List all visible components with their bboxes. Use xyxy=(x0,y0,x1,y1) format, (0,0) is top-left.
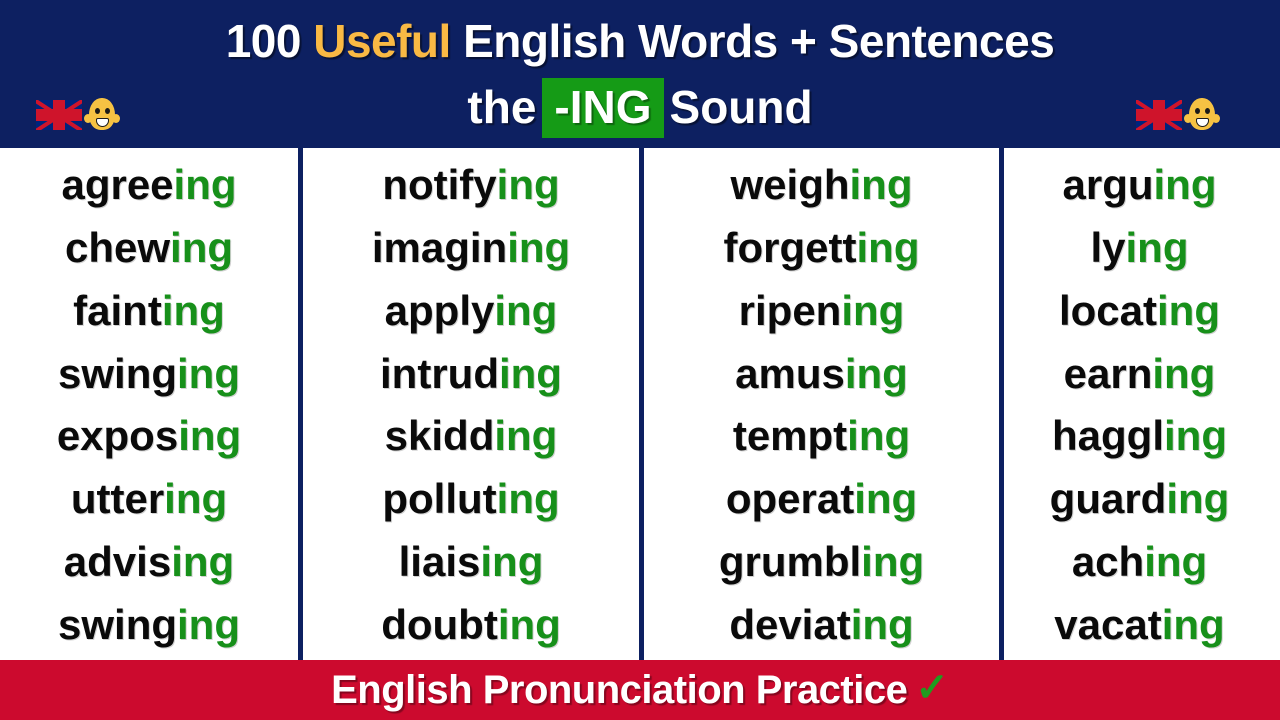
word-stem: tempt xyxy=(733,412,847,459)
word-ing-suffix: ing xyxy=(1157,287,1220,334)
word-ing-suffix: ing xyxy=(480,538,543,585)
word-ing-suffix: ing xyxy=(498,601,561,648)
word-item: liaising xyxy=(399,541,544,583)
word-ing-suffix: ing xyxy=(171,538,234,585)
word-stem: haggl xyxy=(1052,412,1164,459)
word-stem: expos xyxy=(57,412,178,459)
word-item: exposing xyxy=(57,415,241,457)
word-ing-suffix: ing xyxy=(1164,412,1227,459)
word-item: agreeing xyxy=(61,164,236,206)
word-stem: deviat xyxy=(729,601,850,648)
word-ing-suffix: ing xyxy=(1152,350,1215,397)
word-stem: apply xyxy=(385,287,495,334)
smiley-face-icon xyxy=(84,98,120,134)
word-item: uttering xyxy=(71,478,227,520)
word-stem: amus xyxy=(735,350,845,397)
title-suffix: English Words + Sentences xyxy=(451,15,1055,67)
word-item: operating xyxy=(726,478,917,520)
uk-flag-smiley-left xyxy=(36,96,132,138)
word-item: fainting xyxy=(73,290,225,332)
word-column-0: agreeingchewingfaintingswingingexposingu… xyxy=(0,148,298,660)
word-stem: vacat xyxy=(1054,601,1161,648)
word-item: forgetting xyxy=(724,227,920,269)
word-ing-suffix: ing xyxy=(164,475,227,522)
word-ing-suffix: ing xyxy=(1166,475,1229,522)
word-stem: faint xyxy=(73,287,162,334)
word-grid: agreeingchewingfaintingswingingexposingu… xyxy=(0,148,1280,660)
word-stem: earn xyxy=(1064,350,1153,397)
word-stem: grumbl xyxy=(719,538,861,585)
word-item: deviating xyxy=(729,604,913,646)
smiley-face-icon xyxy=(1184,98,1220,134)
title-highlight-useful: Useful xyxy=(313,15,451,67)
word-stem: imagin xyxy=(372,224,507,271)
word-stem: pollut xyxy=(382,475,496,522)
word-stem: locat xyxy=(1059,287,1157,334)
word-column-1: notifyingimaginingapplyingintrudingskidd… xyxy=(298,148,639,660)
footer-label: English Pronunciation Practice xyxy=(331,668,907,713)
word-item: guarding xyxy=(1050,478,1230,520)
word-ing-suffix: ing xyxy=(494,412,557,459)
slide-root: 100 Useful English Words + Sentences the… xyxy=(0,0,1280,720)
word-item: swinging xyxy=(58,353,240,395)
word-ing-suffix: ing xyxy=(1154,161,1217,208)
word-item: skidding xyxy=(385,415,558,457)
word-item: arguing xyxy=(1063,164,1217,206)
word-ing-suffix: ing xyxy=(497,161,560,208)
word-stem: guard xyxy=(1050,475,1167,522)
ing-highlight-box: -ING xyxy=(542,78,663,138)
word-ing-suffix: ing xyxy=(497,475,560,522)
word-item: intruding xyxy=(380,353,562,395)
title-line-1: 100 Useful English Words + Sentences xyxy=(0,14,1280,68)
word-item: notifying xyxy=(382,164,559,206)
word-ing-suffix: ing xyxy=(499,350,562,397)
footer-banner: English Pronunciation Practice ✓ xyxy=(0,660,1280,720)
word-stem: utter xyxy=(71,475,164,522)
word-stem: advis xyxy=(64,538,171,585)
word-item: doubting xyxy=(381,604,561,646)
word-ing-suffix: ing xyxy=(174,161,237,208)
word-stem: swing xyxy=(58,601,177,648)
word-stem: ly xyxy=(1090,224,1125,271)
word-stem: doubt xyxy=(381,601,498,648)
word-stem: ripen xyxy=(739,287,842,334)
word-item: applying xyxy=(385,290,558,332)
word-item: imagining xyxy=(372,227,570,269)
word-ing-suffix: ing xyxy=(854,475,917,522)
word-stem: weigh xyxy=(731,161,850,208)
uk-flag-icon xyxy=(1136,100,1182,130)
word-ing-suffix: ing xyxy=(857,224,920,271)
word-ing-suffix: ing xyxy=(178,412,241,459)
word-stem: operat xyxy=(726,475,854,522)
word-ing-suffix: ing xyxy=(1144,538,1207,585)
word-ing-suffix: ing xyxy=(177,601,240,648)
word-ing-suffix: ing xyxy=(177,350,240,397)
word-ing-suffix: ing xyxy=(845,350,908,397)
word-item: tempting xyxy=(733,415,910,457)
word-stem: swing xyxy=(58,350,177,397)
word-ing-suffix: ing xyxy=(851,601,914,648)
word-stem: agree xyxy=(61,161,173,208)
word-stem: chew xyxy=(65,224,170,271)
word-item: chewing xyxy=(65,227,233,269)
word-item: weighing xyxy=(731,164,913,206)
word-ing-suffix: ing xyxy=(507,224,570,271)
word-item: advising xyxy=(64,541,234,583)
title-line-2: the-INGSound xyxy=(0,78,1280,138)
word-item: amusing xyxy=(735,353,908,395)
word-item: polluting xyxy=(382,478,559,520)
word-item: lying xyxy=(1090,227,1188,269)
word-ing-suffix: ing xyxy=(162,287,225,334)
word-column-2: weighingforgettingripeningamusingtemptin… xyxy=(639,148,999,660)
word-item: haggling xyxy=(1052,415,1227,457)
word-item: ripening xyxy=(739,290,905,332)
word-ing-suffix: ing xyxy=(847,412,910,459)
uk-flag-smiley-right xyxy=(1136,96,1232,138)
header-banner: 100 Useful English Words + Sentences the… xyxy=(0,0,1280,148)
word-stem: intrud xyxy=(380,350,499,397)
word-item: vacating xyxy=(1054,604,1224,646)
title-prefix: 100 xyxy=(226,15,314,67)
checkmark-icon: ✓ xyxy=(915,668,949,708)
word-column-3: arguinglyinglocatingearninghagglingguard… xyxy=(999,148,1275,660)
word-ing-suffix: ing xyxy=(1162,601,1225,648)
subtitle-suffix: Sound xyxy=(670,81,813,133)
word-item: locating xyxy=(1059,290,1220,332)
word-item: grumbling xyxy=(719,541,924,583)
uk-flag-icon xyxy=(36,100,82,130)
subtitle-prefix: the xyxy=(467,81,536,133)
word-ing-suffix: ing xyxy=(494,287,557,334)
word-item: aching xyxy=(1072,541,1207,583)
word-stem: ach xyxy=(1072,538,1144,585)
word-item: swinging xyxy=(58,604,240,646)
word-stem: argu xyxy=(1063,161,1154,208)
word-stem: skidd xyxy=(385,412,495,459)
word-ing-suffix: ing xyxy=(861,538,924,585)
word-ing-suffix: ing xyxy=(850,161,913,208)
word-ing-suffix: ing xyxy=(841,287,904,334)
word-item: earning xyxy=(1064,353,1216,395)
word-stem: notify xyxy=(382,161,496,208)
word-stem: forgett xyxy=(724,224,857,271)
word-ing-suffix: ing xyxy=(170,224,233,271)
word-ing-suffix: ing xyxy=(1126,224,1189,271)
word-stem: liais xyxy=(399,538,481,585)
